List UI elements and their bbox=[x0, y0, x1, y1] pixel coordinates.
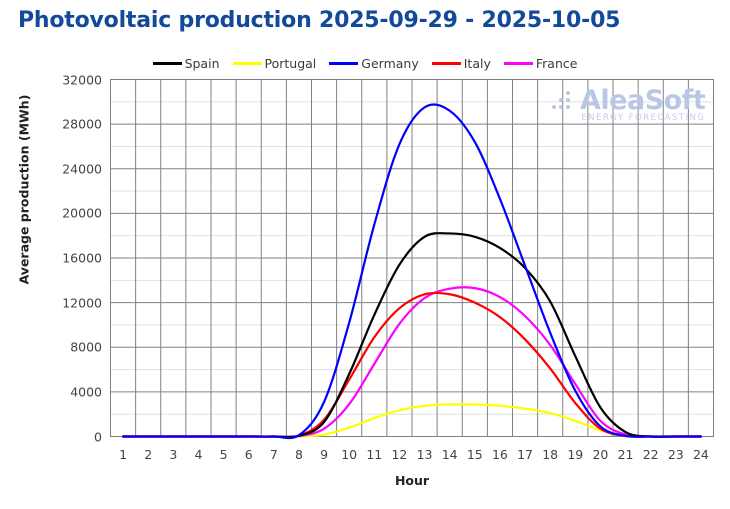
photovoltaic-production-chart: Photovoltaic production 2025-09-29 - 202… bbox=[0, 0, 730, 509]
grid-lines bbox=[111, 80, 714, 437]
plot-area bbox=[0, 0, 730, 509]
